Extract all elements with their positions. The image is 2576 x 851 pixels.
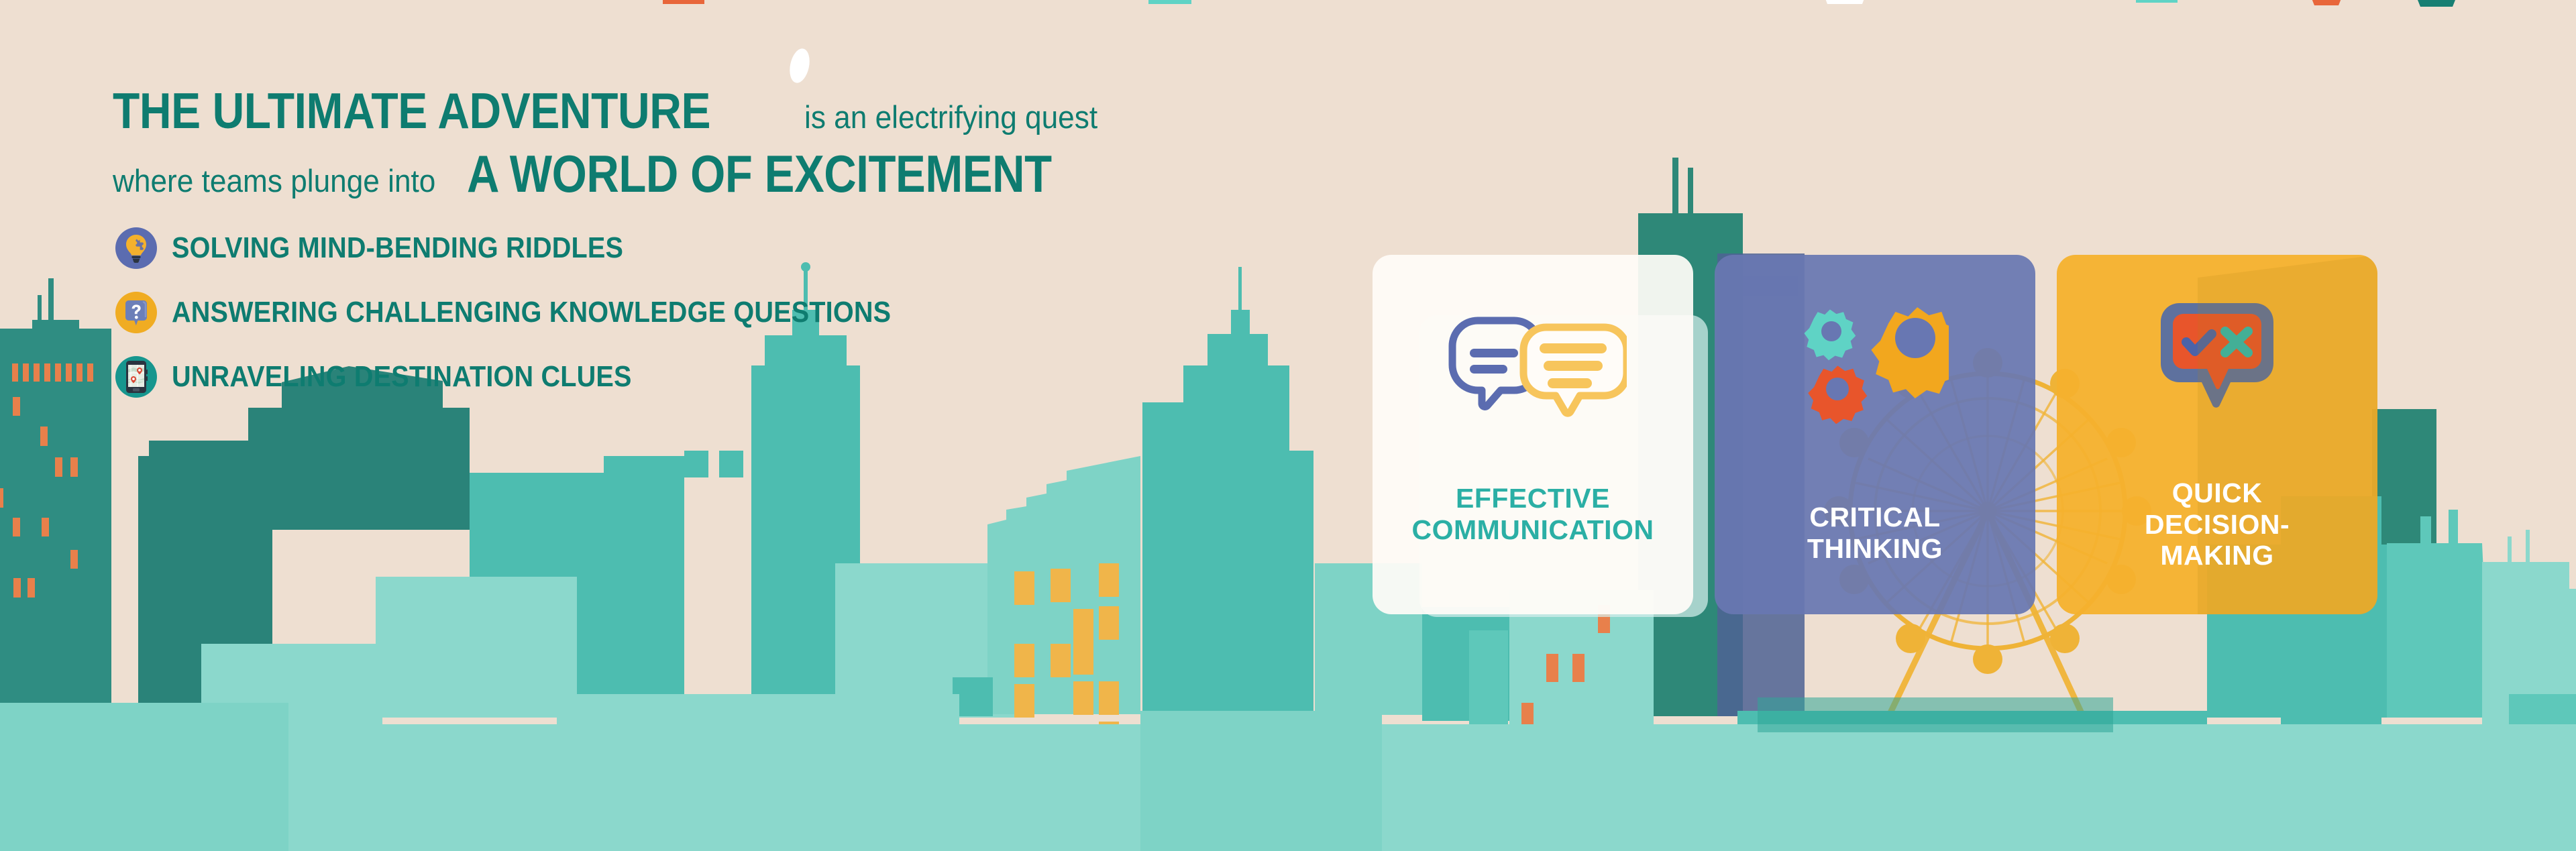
list-item-label: ANSWERING CHALLENGING KNOWLEDGE QUESTION… (172, 296, 891, 329)
list-item-label: UNRAVELING DESTINATION CLUES (172, 360, 632, 394)
list-item: ANSWERING CHALLENGING KNOWLEDGE QUESTION… (115, 287, 971, 338)
card-title-line1: EFFECTIVE (1373, 483, 1693, 514)
headline-emphasis-1: THE ULTIMATE ADVENTURE (113, 82, 710, 139)
card-title-line3: MAKING (2057, 540, 2377, 571)
list-item-label: SOLVING MIND-BENDING RIDDLES (172, 231, 623, 265)
card-title-line2: DECISION- (2057, 509, 2377, 541)
feature-bullet-list: SOLVING MIND-BENDING RIDDLES ANSWERING C… (115, 223, 971, 416)
building-artdeco-tower (0, 278, 111, 704)
question-bubble-icon (115, 292, 157, 333)
gear-medium-orange (1808, 365, 1867, 424)
infographic-banner: THE ULTIMATE ADVENTURE is an electrifyin… (0, 0, 2576, 851)
lightbulb-puzzle-icon (115, 227, 157, 269)
headline-normal-1: is an electrifying quest (804, 99, 1097, 135)
list-item: UNRAVELING DESTINATION CLUES (115, 351, 971, 402)
headline: THE ULTIMATE ADVENTURE is an electrifyin… (113, 82, 1147, 205)
card-title: QUICK DECISION- MAKING (2057, 477, 2377, 571)
card-title-line2: THINKING (1715, 533, 2035, 565)
speech-bubbles-icon (1439, 311, 1627, 435)
card-critical-thinking[interactable]: CRITICAL THINKING (1715, 255, 2035, 614)
card-effective-communication[interactable]: EFFECTIVE COMMUNICATION (1373, 255, 1693, 614)
card-quick-decision-making[interactable]: QUICK DECISION- MAKING (2057, 255, 2377, 614)
gears-icon (1801, 296, 1949, 427)
headline-normal-2: where teams plunge into (113, 162, 435, 199)
list-item: SOLVING MIND-BENDING RIDDLES (115, 223, 971, 274)
card-title-line2: COMMUNICATION (1373, 514, 1693, 546)
card-title: CRITICAL THINKING (1715, 502, 2035, 564)
gear-small-teal (1804, 309, 1856, 360)
smartphone-map-icon (115, 356, 157, 398)
card-title-line1: CRITICAL (1715, 502, 2035, 533)
card-title-line1: QUICK (2057, 477, 2377, 509)
gear-large-amber (1871, 307, 1949, 398)
headline-emphasis-2: A WORLD OF EXCITEMENT (467, 144, 1052, 205)
card-title: EFFECTIVE COMMUNICATION (1373, 483, 1693, 545)
